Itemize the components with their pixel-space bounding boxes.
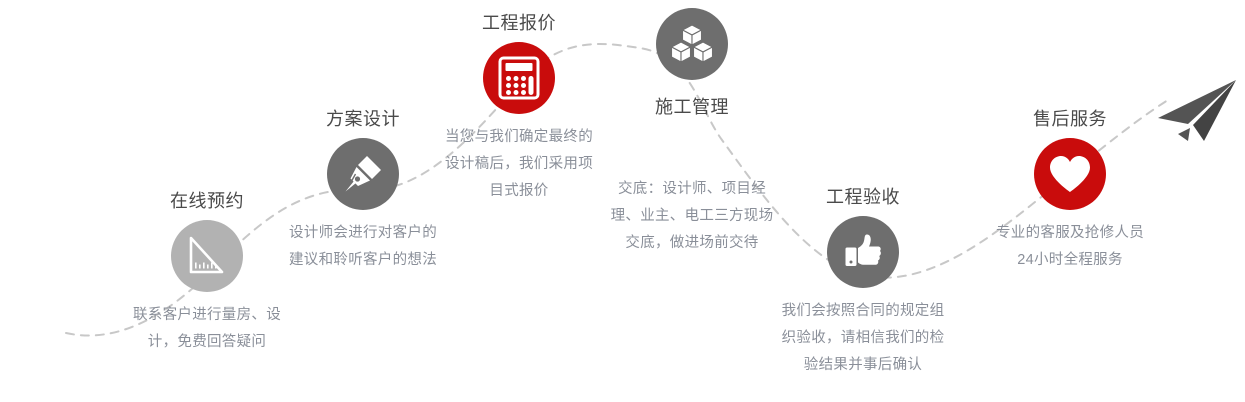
- step-title: 施工管理: [597, 96, 787, 118]
- step-icon-circle[interactable]: [483, 42, 555, 114]
- step-icon-circle[interactable]: [827, 216, 899, 288]
- set-square-ruler-icon: [186, 235, 228, 277]
- step-description: 当您与我们确定最终的设计稿后，我们采用项目式报价: [444, 124, 594, 205]
- step-project-acceptance[interactable]: 工程验收 我们会按照合同的规定组织验收，请相信我们的检验结果并事后确认: [768, 186, 958, 379]
- step-icon-circle[interactable]: [327, 138, 399, 210]
- step-icon-circle[interactable]: [1034, 138, 1106, 210]
- step-description: 交底：设计师、项目经理、业主、电工三方现场交底，做进场前交待: [605, 176, 780, 257]
- calculator-icon: [498, 56, 540, 100]
- step-title: 工程验收: [768, 186, 958, 208]
- step-after-sales-service[interactable]: 售后服务 专业的客服及抢修人员24小时全程服务: [975, 108, 1165, 274]
- step-title: 售后服务: [975, 108, 1165, 130]
- step-description: 专业的客服及抢修人员24小时全程服务: [995, 220, 1145, 274]
- step-project-quotation[interactable]: 工程报价 当您与我们确定最终的设计稿后，我们采用项目: [424, 12, 614, 205]
- step-description: 设计师会进行对客户的建议和聆听客户的想法: [288, 220, 438, 274]
- process-infographic: 在线预约 联系客户进行量房、设计，免费回答疑问 方案设计: [0, 0, 1245, 402]
- step-description: 我们会按照合同的规定组织验收，请相信我们的检验结果并事后确认: [776, 298, 951, 379]
- stacked-cubes-icon: [670, 23, 714, 65]
- step-title: 工程报价: [424, 12, 614, 34]
- heart-icon: [1048, 154, 1092, 194]
- step-icon-circle[interactable]: [171, 220, 243, 292]
- step-construction-management[interactable]: 施工管理 交底：设计师、项目经理、业主、电工三方现场交底，做进场前交待: [597, 188, 787, 257]
- fountain-pen-nib-icon: [341, 152, 385, 196]
- step-icon-circle[interactable]: [656, 8, 728, 80]
- step-description: 联系客户进行量房、设计，免费回答疑问: [132, 302, 282, 356]
- thumbs-up-icon: [842, 231, 884, 273]
